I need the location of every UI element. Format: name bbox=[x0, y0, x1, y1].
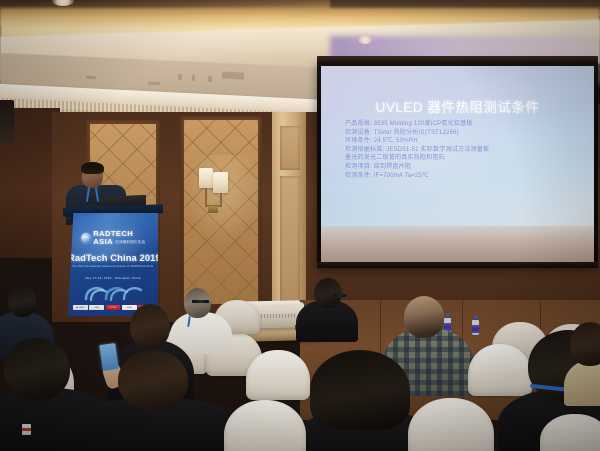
screen-lower-washout bbox=[321, 226, 594, 263]
globe-icon bbox=[81, 233, 91, 243]
audience-chair bbox=[246, 350, 310, 400]
audience-member-head bbox=[4, 338, 70, 400]
audience-member-head bbox=[118, 350, 188, 410]
radtech-logo: RADTECH ASIA 亚洲辐射固化协会 bbox=[68, 230, 158, 245]
slide-line: 产品规格: 3535 Molding 120度ICP氮化铝基板 bbox=[345, 120, 580, 129]
sponsor-chip: IGM bbox=[89, 305, 104, 310]
badge-stripe bbox=[22, 428, 31, 431]
audience-chair bbox=[224, 400, 306, 451]
radtech-word-bottom: ASIA bbox=[93, 238, 113, 246]
audience-chair bbox=[468, 344, 532, 396]
projector-vent-grille bbox=[255, 314, 295, 319]
eyeglasses-icon bbox=[334, 294, 346, 297]
ceiling-downlight-icon bbox=[358, 36, 372, 44]
ceiling-vent-grille bbox=[148, 82, 160, 86]
audience-member-head bbox=[310, 350, 410, 430]
bottle-label bbox=[472, 325, 479, 333]
audience-member-head bbox=[8, 286, 36, 317]
slide-line: 检测设备: T3ster 热阻分析仪(TST12266) bbox=[345, 129, 580, 138]
radtech-wordmark: RADTECH ASIA 亚洲辐射固化协会 bbox=[93, 230, 145, 245]
slide-line: 检测条件: IF=700mA Ta=25℃ bbox=[345, 172, 580, 181]
lectern-banner: RADTECH ASIA 亚洲辐射固化协会 RadTech China 2019… bbox=[68, 213, 158, 316]
audience-member-head bbox=[130, 304, 170, 349]
screen-bottom-bar bbox=[317, 262, 598, 268]
conference-date-line: May 13-15, 2019 · Shanghai, China bbox=[68, 276, 158, 280]
sponsor-chip: DSM bbox=[122, 305, 137, 310]
ceiling-track-fixture bbox=[192, 75, 195, 81]
slide-body: 产品规格: 3535 Molding 120度ICP氮化铝基板 检测设备: T3… bbox=[345, 120, 580, 180]
radtech-word-cn: 亚洲辐射固化协会 bbox=[115, 241, 145, 245]
sconce-wall-plate bbox=[208, 206, 218, 213]
cc-swoosh-graphic-icon bbox=[82, 283, 144, 305]
sunglasses-icon bbox=[192, 300, 209, 303]
pilaster-inset-panel bbox=[280, 126, 300, 170]
ceiling-vent-grille bbox=[86, 76, 96, 79]
ceiling-track-fixture bbox=[208, 76, 212, 82]
conference-subtitle: The 20th International Conference & Expo… bbox=[72, 264, 154, 268]
conference-photo-scene: UVLED 器件热阻测试条件 产品规格: 3535 Molding 120度IC… bbox=[0, 0, 600, 451]
sponsor-chip: CYTEC bbox=[106, 305, 121, 310]
sconce-arm bbox=[205, 188, 207, 206]
wall-panel-quilted bbox=[184, 120, 258, 304]
slide-line: 墨光的发光二极管的真实热阻和阻抗 bbox=[345, 154, 580, 163]
presenter-hair bbox=[81, 162, 104, 174]
pilaster-inset-panel bbox=[280, 176, 300, 304]
slide-line: 检测项目: 结到焊盘片阻 bbox=[345, 163, 580, 172]
audience-member-head bbox=[314, 278, 342, 308]
sconce-shade-left-icon bbox=[199, 168, 213, 188]
wall-speaker-box bbox=[0, 100, 14, 144]
audience-member-head bbox=[184, 288, 211, 318]
water-bottle bbox=[472, 316, 479, 335]
audience-member-head bbox=[404, 296, 444, 338]
ceiling-vent-grille bbox=[222, 71, 244, 79]
smartphone[interactable] bbox=[99, 343, 118, 371]
ceiling-track-fixture bbox=[178, 74, 182, 80]
audience-member-head bbox=[570, 322, 600, 366]
sconce-shade-right-icon bbox=[213, 172, 228, 193]
slide-title: UVLED 器件热阻测试条件 bbox=[321, 96, 594, 116]
slide-line: 环境条件: 24.5℃, 50%RH bbox=[345, 137, 580, 146]
sponsor-chip: ALLNEX bbox=[73, 305, 88, 310]
conference-headline: RadTech China 2019 bbox=[68, 252, 158, 263]
